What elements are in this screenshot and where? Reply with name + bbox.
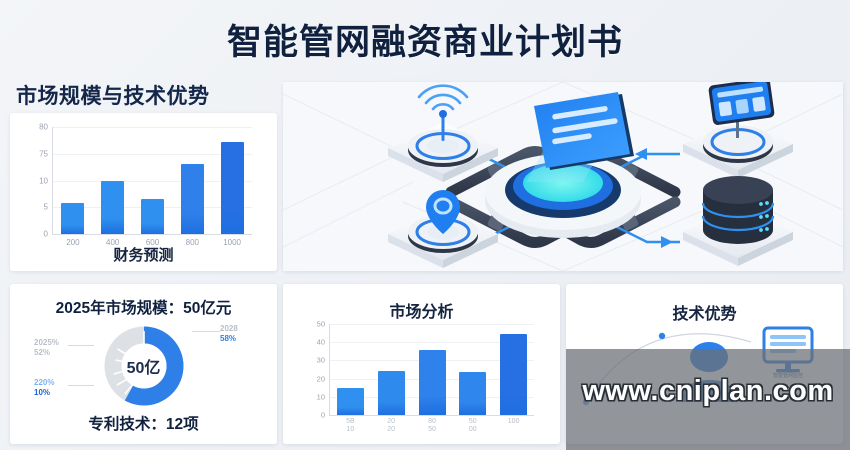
y-axis-tick: 0	[321, 411, 325, 420]
donut-label-right: 2028 58%	[220, 324, 238, 344]
bar	[141, 199, 164, 234]
y-axis-tick: 50	[317, 320, 325, 329]
market-analysis-chart-card: 市场分析 504030201005B10202080505000100	[283, 284, 560, 444]
donut-card-footer: 专利技术：12项	[10, 412, 277, 434]
x-axis-tick: 8050	[428, 418, 436, 434]
donut-chart: 50亿	[100, 322, 188, 410]
donut-leader-left-lower	[68, 385, 94, 386]
iot-network-illustration	[283, 82, 843, 271]
donut-center-value: 50亿	[127, 354, 161, 378]
gridline	[330, 324, 534, 325]
bar	[500, 334, 527, 415]
x-axis-tick: 5B10	[346, 418, 355, 434]
x-axis-tick: 5000	[469, 418, 477, 434]
market-size-donut-card: 2025年市场规模：50亿元 50亿 2028 58% 2025% 52% 22…	[10, 284, 277, 444]
y-axis-tick: 20	[317, 374, 325, 383]
finance-forecast-chart-card: 807510502004006008001000 财务预测	[10, 113, 277, 271]
donut-label-left-lower: 220% 10%	[34, 378, 54, 398]
bar	[419, 350, 446, 415]
donut-label-left-upper: 2025% 52%	[34, 338, 59, 358]
finance-chart-title: 财务预测	[10, 244, 277, 265]
isometric-network-svg	[283, 82, 843, 271]
y-axis-tick: 80	[39, 123, 48, 132]
donut-leader-right	[192, 331, 220, 332]
x-axis-tick: 100	[508, 418, 520, 426]
finance-plot-area: 807510502004006008001000	[52, 127, 252, 235]
y-axis-tick: 0	[44, 230, 48, 239]
bar	[378, 371, 405, 415]
bar	[221, 142, 244, 234]
y-axis-tick: 5	[44, 203, 48, 212]
x-axis-tick: 2020	[387, 418, 395, 434]
y-axis-tick: 75	[39, 149, 48, 158]
watermark-overlay: www.cniplan.com	[566, 349, 850, 450]
bar	[337, 388, 364, 415]
bar	[101, 181, 124, 235]
y-axis-tick: 30	[317, 356, 325, 365]
bar	[181, 164, 204, 234]
bar	[61, 203, 84, 234]
donut-card-heading: 2025年市场规模：50亿元	[10, 296, 277, 318]
y-axis-tick: 10	[317, 392, 325, 401]
market-chart-title: 市场分析	[283, 298, 560, 322]
y-axis-tick: 40	[317, 338, 325, 347]
market-plot-area: 504030201005B10202080505000100	[329, 324, 534, 416]
page-title: 智能管网融资商业计划书	[0, 14, 850, 65]
gridline	[53, 127, 252, 128]
y-axis-tick: 10	[39, 176, 48, 185]
watermark-text: www.cniplan.com	[566, 375, 850, 408]
donut-leader-left-upper	[68, 345, 94, 346]
bar	[459, 372, 486, 415]
section-heading: 市场规模与技术优势	[16, 80, 210, 110]
